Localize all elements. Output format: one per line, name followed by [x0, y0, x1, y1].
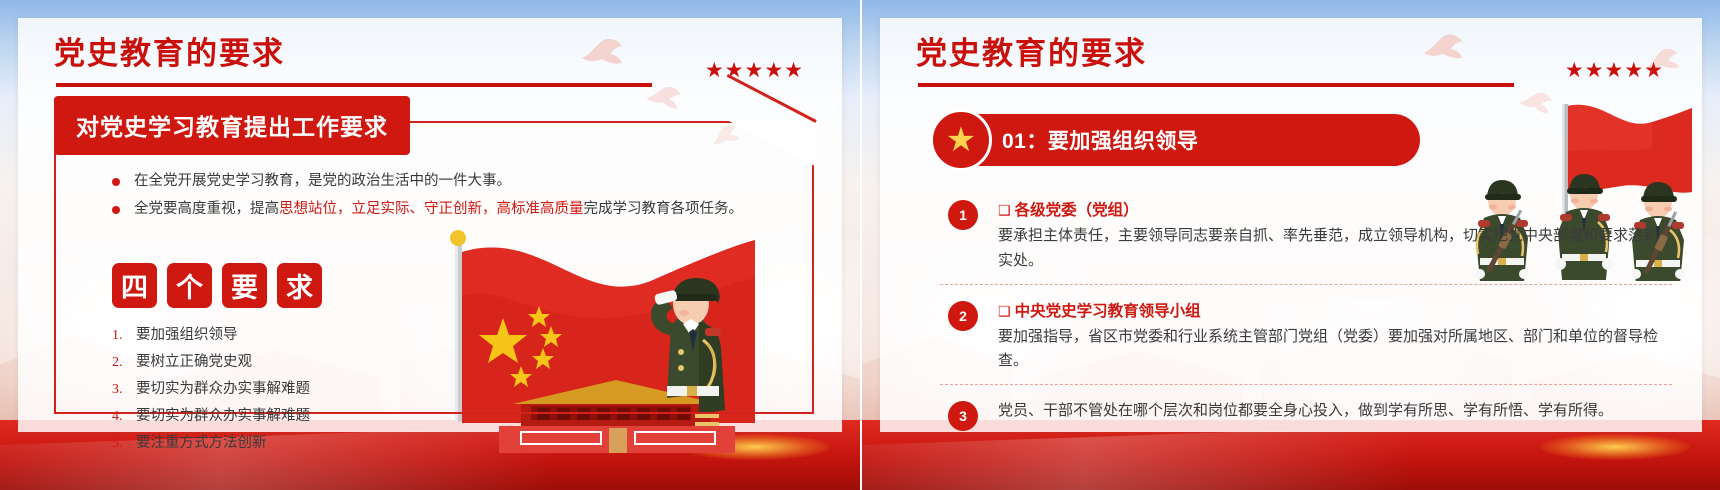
list-item-label: 要注重方式方法创新 — [136, 431, 267, 452]
list-item: 3 党员、干部不管处在哪个层次和岗位都要全身心投入，做到学有所思、学有所悟、学有… — [940, 384, 1672, 434]
list-item: 1. 要加强组织领导 — [112, 323, 310, 344]
section-pill-label: 01：要加强组织领导 — [1002, 125, 1198, 155]
star-icon: ★ — [946, 123, 976, 157]
list-item-number: 2 — [948, 301, 978, 331]
star-rating-decor: ★★★★★ — [705, 60, 804, 81]
star-badge: ★ — [930, 109, 992, 171]
list-item: 2. 要树立正确党史观 — [112, 350, 310, 371]
list-item-heading: ❑各级党委（党组） — [998, 198, 1672, 220]
list-item-number: 3. — [112, 382, 136, 398]
corner-notch — [727, 120, 815, 166]
char-badge: 个 — [167, 263, 212, 308]
page-title: 党史教育的要求 — [916, 36, 1674, 72]
bullet-item: 全党要高度重视，提高思想站位，立足实际、守正创新，高标准高质量完成学习教育各项任… — [112, 197, 784, 222]
presentation-stage: 党史教育的要求 ★★★★★ — [0, 0, 1720, 490]
section-tag: 对党史学习教育提出工作要求 — [54, 96, 410, 155]
bullet-item: 在全党开展党史学习教育，是党的政治生活中的一件大事。 — [112, 169, 784, 194]
slide-header: 党史教育的要求 ★★★★★ — [54, 36, 814, 72]
char-badge: 四 — [112, 263, 157, 308]
numbered-list: 1. 要加强组织领导 2. 要树立正确党史观 3. 要切实为群众办实事解难题 4… — [112, 323, 310, 458]
list-item-number: 1 — [948, 200, 978, 230]
list-item-label: 要树立正确党史观 — [136, 350, 252, 371]
bullet-list: 在全党开展党史学习教育，是党的政治生活中的一件大事。 全党要高度重视，提高思想站… — [112, 169, 784, 226]
bullet-text: 在全党开展党史学习教育，是党的政治生活中的一件大事。 — [134, 173, 511, 189]
list-item: 3. 要切实为群众办实事解难题 — [112, 377, 310, 398]
list-item-body: 党员、干部不管处在哪个层次和岗位都要全身心投入，做到学有所思、学有所悟、学有所得… — [998, 399, 1672, 424]
list-item: 4. 要切实为群众办实事解难题 — [112, 404, 310, 425]
list-item-label: 要切实为群众办实事解难题 — [136, 404, 310, 425]
star-rating-decor: ★★★★★ — [1565, 60, 1664, 81]
list-item-label: 要加强组织领导 — [136, 323, 238, 344]
list-item-heading-text: 中央党史学习教育领导小组 — [1015, 303, 1201, 320]
list-item-heading: ❑中央党史学习教育领导小组 — [998, 299, 1672, 321]
list-item-number: 1. — [112, 328, 136, 344]
list-item-number: 4. — [112, 409, 136, 425]
section-pill: ★ 01：要加强组织领导 — [940, 114, 1420, 166]
list-item-heading-text: 各级党委（党组） — [1015, 202, 1139, 219]
list-item-label: 要切实为群众办实事解难题 — [136, 377, 310, 398]
bullet-text-highlight: 思想站位，立足实际、守正创新，高标准高质量 — [279, 201, 584, 217]
slide-2: 党史教育的要求 ★★★★★ — [860, 0, 1720, 490]
list-item: 5. 要注重方式方法创新 — [112, 431, 310, 452]
page-title: 党史教育的要求 — [54, 36, 814, 72]
list-item-number: 2. — [112, 355, 136, 371]
list-item: 2 ❑中央党史学习教育领导小组 要加强指导，省区市党委和行业系统主管部门党组（党… — [940, 284, 1672, 385]
square-bullet-icon: ❑ — [998, 303, 1011, 319]
slide-card: 党史教育的要求 ★★★★★ — [880, 18, 1702, 432]
slide-header: 党史教育的要求 ★★★★★ — [916, 36, 1674, 72]
title-underline — [56, 83, 652, 87]
list-item-body: 要加强指导，省区市党委和行业系统主管部门党组（党委）要加强对所属地区、部门和单位… — [998, 325, 1672, 375]
char-badge: 要 — [222, 263, 267, 308]
slide-card: 党史教育的要求 ★★★★★ — [18, 18, 842, 432]
list-item: 1 ❑各级党委（党组） 要承担主体责任，主要领导同志要亲自抓、率先垂范，成立领导… — [940, 194, 1672, 284]
four-requirements-badges: 四 个 要 求 — [112, 263, 322, 308]
char-badge: 求 — [277, 263, 322, 308]
bullet-text: 完成学习教育各项任务。 — [584, 201, 744, 217]
requirement-list: 1 ❑各级党委（党组） 要承担主体责任，主要领导同志要亲自抓、率先垂范，成立领导… — [940, 194, 1672, 434]
content-box: 对党史学习教育提出工作要求 在全党开展党史学习教育，是党的政治生活中的一件大事。… — [54, 121, 814, 414]
list-item-body: 要承担主体责任，主要领导同志要亲自抓、率先垂范，成立领导机构，切实把党中央部署和… — [998, 224, 1672, 274]
list-item-number: 5. — [112, 436, 136, 452]
square-bullet-icon: ❑ — [998, 202, 1011, 218]
title-underline — [918, 83, 1514, 87]
slide-1: 党史教育的要求 ★★★★★ — [0, 0, 860, 490]
bullet-text: 全党要高度重视，提高 — [134, 201, 279, 217]
list-item-number: 3 — [948, 401, 978, 431]
